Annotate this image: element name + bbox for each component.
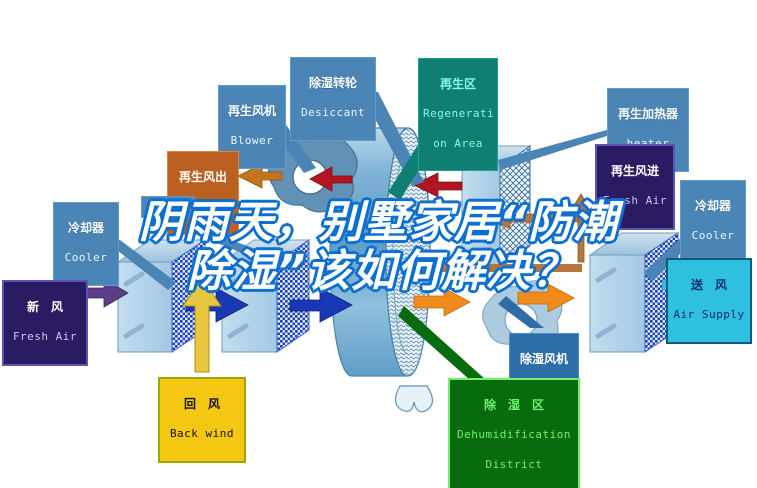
- label-cooler-right[interactable]: 冷却器 Cooler: [680, 180, 746, 264]
- label-cooler-left[interactable]: 冷却器 Cooler: [53, 202, 119, 286]
- label-dehumid-district-en1: Dehumidification: [454, 429, 574, 441]
- label-air-supply-en: Air Supply: [672, 309, 746, 321]
- label-regeneration-area[interactable]: 再生区 Regenerati on Area: [418, 58, 498, 171]
- label-regen-blower-cn: 再生风机: [223, 105, 281, 118]
- label-fresh-air-regen[interactable]: 再生风进 Fresh Air: [595, 144, 675, 230]
- label-cooler-right-cn: 冷却器: [685, 200, 741, 213]
- label-exhaust[interactable]: 再生风出 Exhaust: [167, 151, 239, 235]
- label-exhaust-cn: 再生风出: [172, 171, 234, 184]
- label-desiccant-cn: 除湿转轮: [295, 77, 371, 90]
- label-regen-blower-en: Blower: [223, 135, 281, 147]
- label-cooler-mid[interactable]: 冷却器: [141, 196, 195, 218]
- label-fresh-air-process-en: Fresh Air: [8, 331, 82, 343]
- label-regen-heater-cn: 再生加热器: [612, 108, 684, 121]
- label-cooler-mid-cn: 冷却器: [146, 216, 190, 218]
- label-dehumidification-district[interactable]: 除 湿 区 Dehumidification District: [448, 378, 580, 488]
- label-regeneration-area-en1: Regenerati: [423, 108, 493, 120]
- label-dehumid-district-en2: District: [454, 459, 574, 471]
- label-back-wind-en: Back wind: [164, 428, 240, 440]
- cooler-block-right: [590, 233, 678, 352]
- label-cooler-left-en: Cooler: [58, 252, 114, 264]
- label-dehumid-blower-cn: 除湿风机: [514, 353, 574, 366]
- label-fresh-air-process-cn: 新 风: [8, 301, 82, 314]
- label-cooler-left-cn: 冷却器: [58, 222, 114, 235]
- label-fresh-air-regen-en: Fresh Air: [601, 195, 669, 207]
- label-desiccant[interactable]: 除湿转轮 Desiccant: [290, 57, 376, 141]
- label-dehumid-district-cn: 除 湿 区: [454, 399, 574, 412]
- diagram-canvas: XT: [0, 0, 757, 488]
- label-desiccant-en: Desiccant: [295, 107, 371, 119]
- label-fresh-air-regen-cn: 再生风进: [601, 165, 669, 178]
- label-regeneration-area-en2: on Area: [423, 138, 493, 150]
- label-air-supply-cn: 送 风: [672, 279, 746, 292]
- label-back-wind-cn: 回 风: [164, 398, 240, 411]
- label-fresh-air-process[interactable]: 新 风 Fresh Air: [2, 280, 88, 366]
- label-back-wind[interactable]: 回 风 Back wind: [158, 377, 246, 463]
- regen-fresh-air-riser: [570, 194, 592, 262]
- label-regeneration-area-cn: 再生区: [423, 78, 493, 91]
- label-air-supply[interactable]: 送 风 Air Supply: [666, 258, 752, 344]
- label-cooler-right-en: Cooler: [685, 230, 741, 242]
